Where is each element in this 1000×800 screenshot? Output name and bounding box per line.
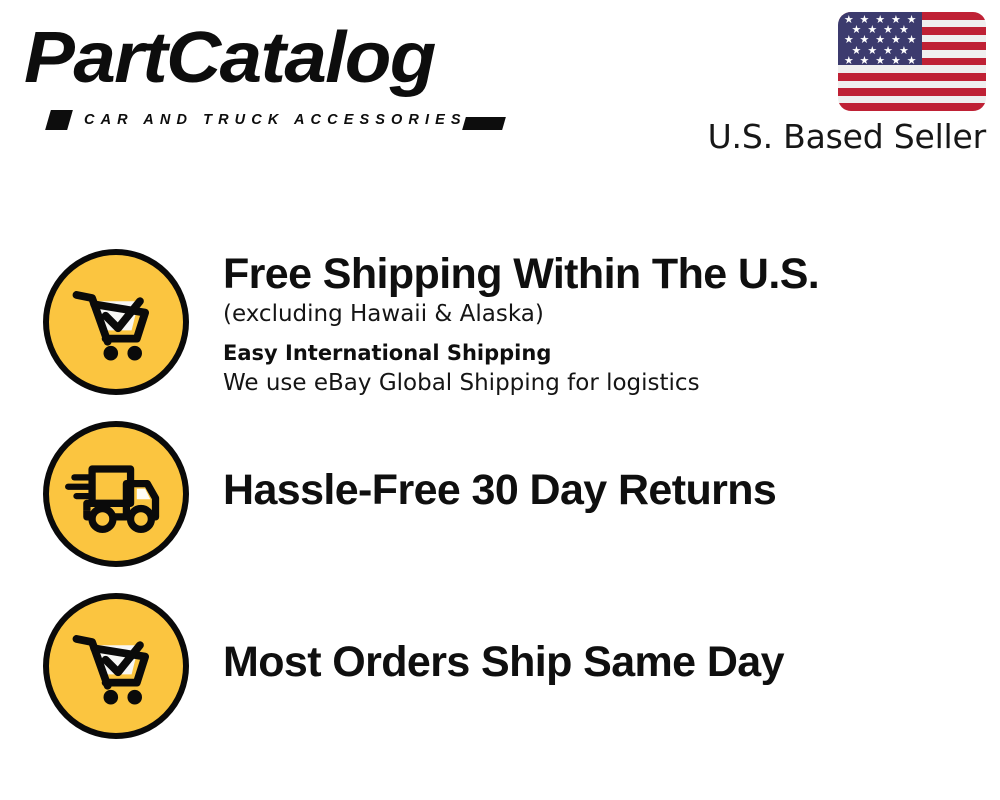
feature-title: Most Orders Ship Same Day xyxy=(223,637,963,687)
feature-title: Hassle-Free 30 Day Returns xyxy=(223,465,963,515)
feature-badge-returns xyxy=(43,421,189,567)
delivery-truck-icon xyxy=(64,442,168,546)
feature-subtitle-secondary: We use eBay Global Shipping for logistic… xyxy=(223,368,963,398)
feature-title: Free Shipping Within The U.S. xyxy=(223,249,963,299)
feature-list: Free Shipping Within The U.S. (excluding… xyxy=(0,0,1000,800)
feature-text-block: Free Shipping Within The U.S. (excluding… xyxy=(223,249,963,398)
feature-subtitle-bold: Easy International Shipping xyxy=(223,338,963,368)
feature-text-block: Most Orders Ship Same Day xyxy=(223,637,963,687)
feature-badge-same-day xyxy=(43,593,189,739)
shopping-cart-check-icon xyxy=(64,614,168,718)
feature-subtitle: (excluding Hawaii & Alaska) xyxy=(223,299,963,329)
feature-text-block: Hassle-Free 30 Day Returns xyxy=(223,465,963,515)
shopping-cart-check-icon xyxy=(64,270,168,374)
feature-badge-shipping xyxy=(43,249,189,395)
